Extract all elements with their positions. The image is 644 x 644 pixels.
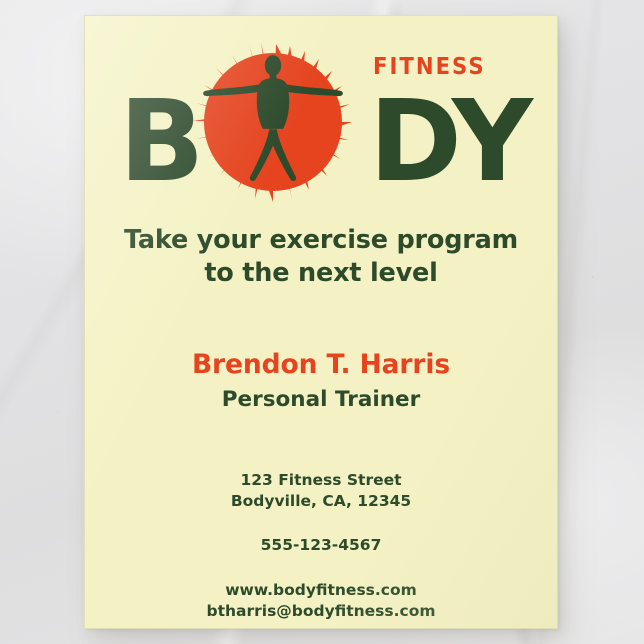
person-role: Personal Trainer [85,387,557,413]
email-address: btharris@bodyfitness.com [85,601,557,622]
web-block: www.bodyfitness.com btharris@bodyfitness… [85,580,557,623]
phone-number: 555-123-4567 [85,535,557,556]
address-street: 123 Fitness Street [85,470,557,491]
logo-lockup: B [119,30,523,210]
logo-letters-dy: DY [369,86,531,198]
tagline: Take your exercise program to the next l… [85,224,557,290]
flyer-page: B [85,16,557,628]
person-name: Brendon T. Harris [85,349,557,381]
tagline-line-2: to the next level [85,257,557,290]
website-url: www.bodyfitness.com [85,580,557,601]
logo-letter-b: B [119,86,203,198]
flyer-content: Take your exercise program to the next l… [85,224,557,623]
logo-header: B [85,30,557,210]
tagline-line-1: Take your exercise program [85,224,557,257]
address-block: 123 Fitness Street Bodyville, CA, 12345 [85,470,557,513]
sunburst-circle-icon [193,42,353,202]
address-city-state-zip: Bodyville, CA, 12345 [85,491,557,512]
logo-wordmark-fitness: FITNESS [373,56,486,79]
phone-block: 555-123-4567 [85,535,557,556]
